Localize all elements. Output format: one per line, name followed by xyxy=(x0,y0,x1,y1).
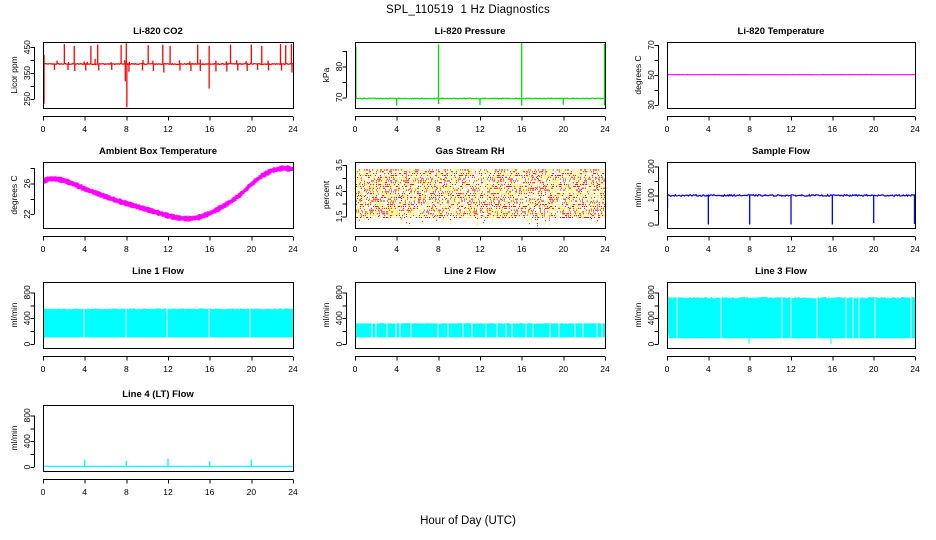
x-tick-label: 0 xyxy=(665,124,670,134)
plot-area: 048121620240100200ml/min xyxy=(626,146,936,264)
y-tick-label: 400 xyxy=(334,311,344,325)
panel-li-820-pressure: Li-820 Pressure048121620247080kPa xyxy=(314,26,626,144)
x-tick-label: 8 xyxy=(436,244,441,254)
x-tick-label: 24 xyxy=(600,364,610,374)
y-tick-label: 22 xyxy=(22,209,32,219)
y-axis-label: Licor ppm xyxy=(9,56,19,93)
panel-gas-stream-rh: Gas Stream RH048121620241.52.53.5percent xyxy=(314,146,626,264)
x-tick-label: 8 xyxy=(124,244,129,254)
x-tick-label: 16 xyxy=(828,364,838,374)
x-tick-label: 20 xyxy=(247,487,257,497)
x-tick-label: 12 xyxy=(786,124,796,134)
panel-title: Line 2 Flow xyxy=(314,266,626,277)
x-tick-label: 12 xyxy=(475,244,485,254)
panel-line-2-flow: Line 2 Flow048121620240400800ml/min xyxy=(314,266,626,384)
figure-xlabel: Hour of Day (UTC) xyxy=(0,515,936,527)
x-tick-label: 0 xyxy=(41,364,46,374)
panel-line-4-lt-flow: Line 4 (LT) Flow048121620240400800ml/min xyxy=(2,389,314,507)
series-line-4-lt-flow xyxy=(43,459,293,467)
x-tick-label: 24 xyxy=(910,244,920,254)
x-tick-label: 12 xyxy=(786,244,796,254)
y-tick-label: 0 xyxy=(646,341,656,346)
panel-title: Ambient Box Temperature xyxy=(2,146,314,157)
plot-area: 048121620240400800ml/min xyxy=(314,266,626,384)
x-tick-label: 16 xyxy=(205,244,215,254)
x-tick-label: 16 xyxy=(205,487,215,497)
x-tick-label: 4 xyxy=(706,364,711,374)
x-tick-label: 24 xyxy=(910,124,920,134)
y-tick-label: 100 xyxy=(646,188,656,202)
y-axis-label: ml/min xyxy=(9,425,19,450)
plot-area: 04812162024305070degrees C xyxy=(626,26,936,144)
y-tick-label: 0 xyxy=(22,464,32,469)
plot-area: 048121620242226degrees C xyxy=(2,146,314,264)
y-tick-label: 800 xyxy=(22,408,32,422)
y-tick-label: 3.5 xyxy=(334,159,344,171)
panel-title: Li-820 Temperature xyxy=(626,26,936,37)
y-tick-label: 250 xyxy=(22,92,32,106)
x-tick-label: 0 xyxy=(41,244,46,254)
x-tick-label: 8 xyxy=(124,364,129,374)
x-tick-label: 16 xyxy=(828,244,838,254)
x-tick-label: 16 xyxy=(517,244,527,254)
y-axis-label: ml/min xyxy=(9,302,19,327)
panel-title: Line 3 Flow xyxy=(626,266,936,277)
x-tick-label: 8 xyxy=(747,244,752,254)
panel-line-1-flow: Line 1 Flow048121620240400800ml/min xyxy=(2,266,314,384)
x-tick-label: 4 xyxy=(82,244,87,254)
x-tick-label: 16 xyxy=(205,364,215,374)
plot-area: 048121620240400800ml/min xyxy=(626,266,936,384)
x-tick-label: 4 xyxy=(82,124,87,134)
y-tick-label: 200 xyxy=(646,159,656,173)
y-axis-label: degrees C xyxy=(9,175,19,214)
x-tick-label: 8 xyxy=(436,364,441,374)
y-tick-label: 0 xyxy=(646,222,656,227)
x-tick-label: 4 xyxy=(82,487,87,497)
x-tick-label: 4 xyxy=(706,244,711,254)
y-axis-label: kPa xyxy=(321,67,331,82)
x-tick-label: 4 xyxy=(82,364,87,374)
y-tick-label: 400 xyxy=(646,311,656,325)
panel-li-820-co2: Li-820 CO204812162024250350450Licor ppm xyxy=(2,26,314,144)
x-tick-label: 12 xyxy=(163,487,173,497)
x-tick-label: 24 xyxy=(600,124,610,134)
y-tick-label: 26 xyxy=(22,178,32,188)
x-tick-label: 24 xyxy=(910,364,920,374)
series-line-3-flow xyxy=(667,297,915,344)
y-tick-label: 0 xyxy=(22,341,32,346)
panel-title: Sample Flow xyxy=(626,146,936,157)
x-tick-label: 4 xyxy=(394,124,399,134)
x-tick-label: 24 xyxy=(288,364,298,374)
x-tick-label: 4 xyxy=(394,244,399,254)
panel-title: Gas Stream RH xyxy=(314,146,626,157)
x-tick-label: 12 xyxy=(786,364,796,374)
y-tick-label: 800 xyxy=(334,285,344,299)
x-tick-label: 16 xyxy=(517,124,527,134)
y-tick-label: 800 xyxy=(646,285,656,299)
x-tick-label: 20 xyxy=(869,364,879,374)
x-tick-label: 16 xyxy=(517,364,527,374)
y-tick-label: 450 xyxy=(22,40,32,54)
x-tick-label: 16 xyxy=(205,124,215,134)
y-tick-label: 400 xyxy=(22,434,32,448)
x-tick-label: 4 xyxy=(706,124,711,134)
y-tick-label: 400 xyxy=(22,311,32,325)
x-tick-label: 8 xyxy=(436,124,441,134)
y-tick-label: 50 xyxy=(646,70,656,80)
y-axis-label: percent xyxy=(321,180,331,209)
x-tick-label: 0 xyxy=(665,364,670,374)
series-li-820-co2 xyxy=(43,43,293,107)
x-tick-label: 0 xyxy=(353,124,358,134)
plot-area: 048121620247080kPa xyxy=(314,26,626,144)
panel-title: Line 1 Flow xyxy=(2,266,314,277)
panel-line-3-flow: Line 3 Flow048121620240400800ml/min xyxy=(626,266,936,384)
y-tick-label: 70 xyxy=(646,40,656,50)
x-tick-label: 20 xyxy=(247,244,257,254)
y-axis-label: ml/min xyxy=(633,302,643,327)
plot-area: 048121620240400800ml/min xyxy=(2,266,314,384)
y-tick-label: 70 xyxy=(334,92,344,102)
y-tick-label: 1.5 xyxy=(334,210,344,222)
y-tick-label: 2.5 xyxy=(334,185,344,197)
series-line-2-flow xyxy=(355,323,605,337)
y-tick-label: 30 xyxy=(646,100,656,110)
panel-title: Li-820 Pressure xyxy=(314,26,626,37)
plot-area: 048121620241.52.53.5percent xyxy=(314,146,626,264)
series-gas-stream-rh xyxy=(355,169,606,226)
x-tick-label: 20 xyxy=(559,244,569,254)
x-tick-label: 24 xyxy=(288,124,298,134)
panel-ambient-box-temperature: Ambient Box Temperature048121620242226de… xyxy=(2,146,314,264)
y-axis-label: ml/min xyxy=(321,302,331,327)
x-tick-label: 20 xyxy=(559,364,569,374)
series-line-1-flow xyxy=(43,308,293,337)
x-tick-label: 24 xyxy=(288,487,298,497)
x-tick-label: 20 xyxy=(869,244,879,254)
panel-sample-flow: Sample Flow048121620240100200ml/min xyxy=(626,146,936,264)
x-tick-label: 4 xyxy=(394,364,399,374)
x-tick-label: 20 xyxy=(559,124,569,134)
plot-area: 048121620240400800ml/min xyxy=(2,389,314,507)
series-ambient-box-temperature xyxy=(43,165,293,222)
x-tick-label: 12 xyxy=(163,364,173,374)
x-tick-label: 16 xyxy=(828,124,838,134)
x-tick-label: 0 xyxy=(41,124,46,134)
x-tick-label: 20 xyxy=(247,364,257,374)
y-tick-label: 800 xyxy=(22,285,32,299)
y-axis-label: degrees C xyxy=(633,55,643,94)
plot-area: 04812162024250350450Licor ppm xyxy=(2,26,314,144)
x-tick-label: 0 xyxy=(353,364,358,374)
panel-title: Line 4 (LT) Flow xyxy=(2,389,314,400)
x-tick-label: 20 xyxy=(869,124,879,134)
x-tick-label: 12 xyxy=(475,124,485,134)
diagnostics-figure: SPL_110519 1 Hz Diagnostics Hour of Day … xyxy=(0,0,936,540)
x-tick-label: 8 xyxy=(747,364,752,374)
figure-title: SPL_110519 1 Hz Diagnostics xyxy=(0,4,936,16)
x-tick-label: 0 xyxy=(41,487,46,497)
y-tick-label: 0 xyxy=(334,341,344,346)
panel-li-820-temperature: Li-820 Temperature04812162024305070degre… xyxy=(626,26,936,144)
panel-title: Li-820 CO2 xyxy=(2,26,314,37)
x-tick-label: 8 xyxy=(124,487,129,497)
x-tick-label: 12 xyxy=(163,124,173,134)
x-tick-label: 0 xyxy=(665,244,670,254)
series-sample-flow xyxy=(667,195,915,225)
x-tick-label: 8 xyxy=(124,124,129,134)
y-tick-label: 350 xyxy=(22,66,32,80)
y-tick-label: 80 xyxy=(334,62,344,72)
series-li-820-pressure xyxy=(355,42,605,106)
x-tick-label: 12 xyxy=(163,244,173,254)
x-tick-label: 24 xyxy=(288,244,298,254)
x-tick-label: 12 xyxy=(475,364,485,374)
y-axis-label: ml/min xyxy=(633,182,643,207)
x-tick-label: 20 xyxy=(247,124,257,134)
x-tick-label: 8 xyxy=(747,124,752,134)
x-tick-label: 0 xyxy=(353,244,358,254)
x-tick-label: 24 xyxy=(600,244,610,254)
